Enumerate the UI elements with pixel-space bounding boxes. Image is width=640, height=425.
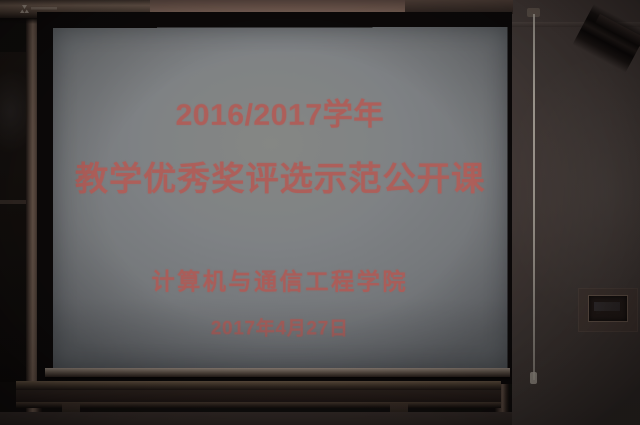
slide-line-academic-year: 2016/2017学年 bbox=[176, 90, 385, 134]
chalk-tray-top bbox=[16, 381, 501, 390]
slide-line-department: 计算机与通信工程学院 bbox=[152, 262, 409, 296]
slide-line-date: 2017年4月27日 bbox=[211, 313, 349, 340]
blackboard-sheen bbox=[0, 52, 26, 382]
presentation-slide: 2016/2017学年 教学优秀奖评选示范公开课 计算机与通信工程学院 2017… bbox=[53, 27, 508, 369]
slide-line-title: 教学优秀奖评选示范公开课 bbox=[75, 152, 485, 200]
pull-cord-handle[interactable] bbox=[530, 372, 537, 384]
floor-strip bbox=[0, 412, 512, 425]
screen-pull-cord[interactable] bbox=[533, 14, 535, 380]
classroom-photo-scene: 2016/2017学年 教学优秀奖评选示范公开课 计算机与通信工程学院 2017… bbox=[0, 0, 640, 425]
projection-screen-surface[interactable]: 2016/2017学年 教学优秀奖评选示范公开课 计算机与通信工程学院 2017… bbox=[53, 27, 508, 369]
chalk-tray-lip bbox=[16, 402, 501, 408]
wall-socket-glint bbox=[594, 302, 620, 311]
screen-weight-bar bbox=[45, 368, 510, 377]
blackboard-left-panel bbox=[0, 52, 26, 382]
